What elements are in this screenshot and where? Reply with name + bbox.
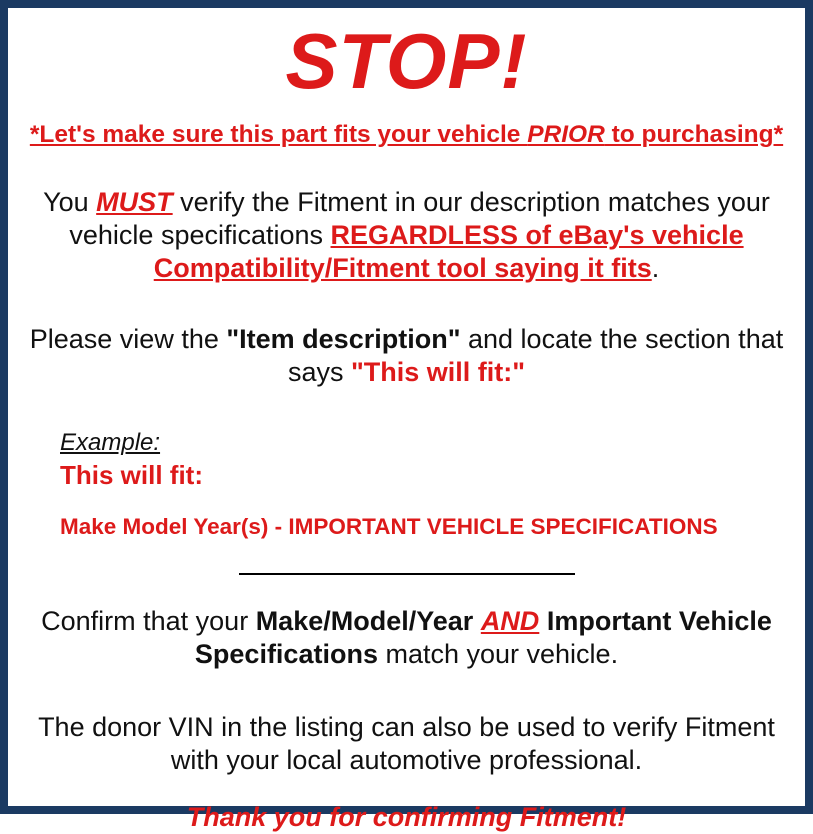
page-title: STOP! bbox=[18, 8, 795, 104]
must-text-part3: . bbox=[652, 253, 660, 283]
must-emphasis: MUST bbox=[96, 187, 173, 217]
fitment-notice-card: STOP! *Let's make sure this part fits yo… bbox=[0, 0, 813, 814]
example-label: Example: bbox=[60, 429, 160, 456]
confirm-paragraph: Confirm that your Make/Model/Year AND Im… bbox=[18, 605, 795, 671]
subtitle-emphasis-prior: PRIOR bbox=[527, 121, 605, 148]
item-description-emphasis: "Item description" bbox=[226, 324, 460, 354]
donor-vin-paragraph: The donor VIN in the listing can also be… bbox=[18, 711, 795, 777]
section-divider bbox=[239, 573, 575, 575]
example-fit-heading: This will fit: bbox=[60, 459, 795, 491]
and-emphasis: AND bbox=[481, 606, 540, 636]
confirm-text-part1: Confirm that your bbox=[41, 606, 256, 636]
example-block: Example: This will fit: Make Model Year(… bbox=[18, 429, 795, 541]
item-description-paragraph: Please view the "Item description" and l… bbox=[18, 323, 795, 389]
thanks-message: Thank you for confirming Fitment! bbox=[18, 801, 795, 834]
divider-wrapper bbox=[18, 565, 795, 583]
make-model-year-emphasis: Make/Model/Year bbox=[256, 606, 474, 636]
confirm-text-part2 bbox=[473, 606, 481, 636]
must-verify-paragraph: You MUST verify the Fitment in our descr… bbox=[18, 186, 795, 285]
subtitle-banner: *Let's make sure this part fits your veh… bbox=[18, 120, 795, 150]
subtitle-text-part1: *Let's make sure this part fits your veh… bbox=[30, 121, 527, 148]
example-spec-line: Make Model Year(s) - IMPORTANT VEHICLE S… bbox=[60, 513, 795, 541]
confirm-text-part4: match your vehicle. bbox=[378, 639, 618, 669]
this-will-fit-emphasis: "This will fit:" bbox=[351, 357, 525, 387]
must-text-part1: You bbox=[43, 187, 96, 217]
example-label-row: Example: bbox=[60, 429, 795, 457]
desc-text-part1: Please view the bbox=[30, 324, 227, 354]
subtitle-text-part2: to purchasing* bbox=[605, 121, 783, 148]
confirm-text-part3 bbox=[539, 606, 547, 636]
